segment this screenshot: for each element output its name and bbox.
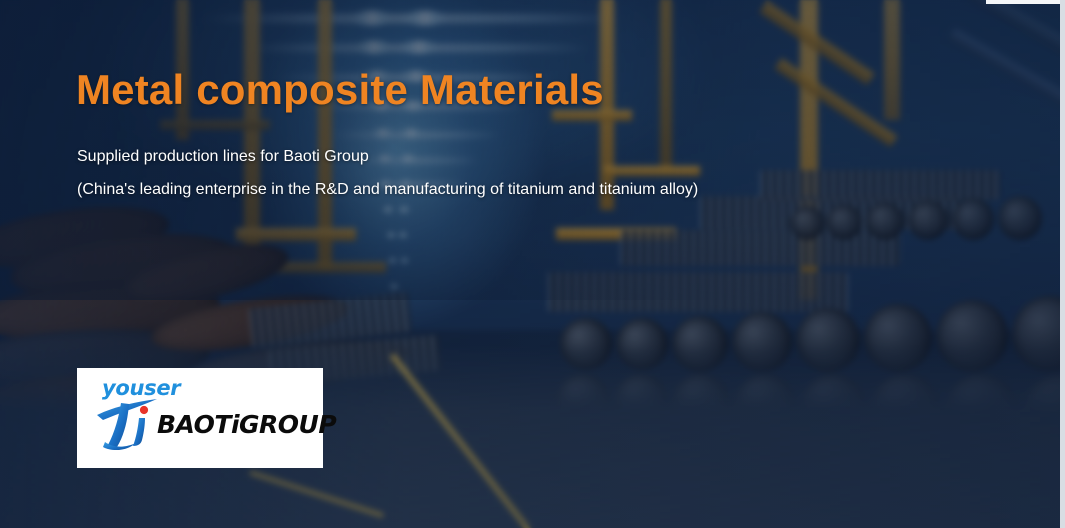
page-top-right-edge [986,0,1060,4]
hero-headline: Metal composite Materials [76,66,604,114]
ti-swoosh-mark [95,398,161,452]
hero-subtitle-line-2: (China's leading enterprise in the R&D a… [77,181,698,199]
hero-banner: Metal composite Materials Supplied produ… [0,0,1065,528]
youser-script-wordmark: youser [102,376,180,400]
hero-subtitle-line-1: Supplied production lines for Baoti Grou… [77,148,369,166]
logo-lockup: youser BA [91,376,313,460]
partner-logo-card: youser BA [77,368,323,468]
baotigroup-wordmark: BAOTiGROUP [157,410,336,439]
page-right-edge [1060,0,1065,528]
